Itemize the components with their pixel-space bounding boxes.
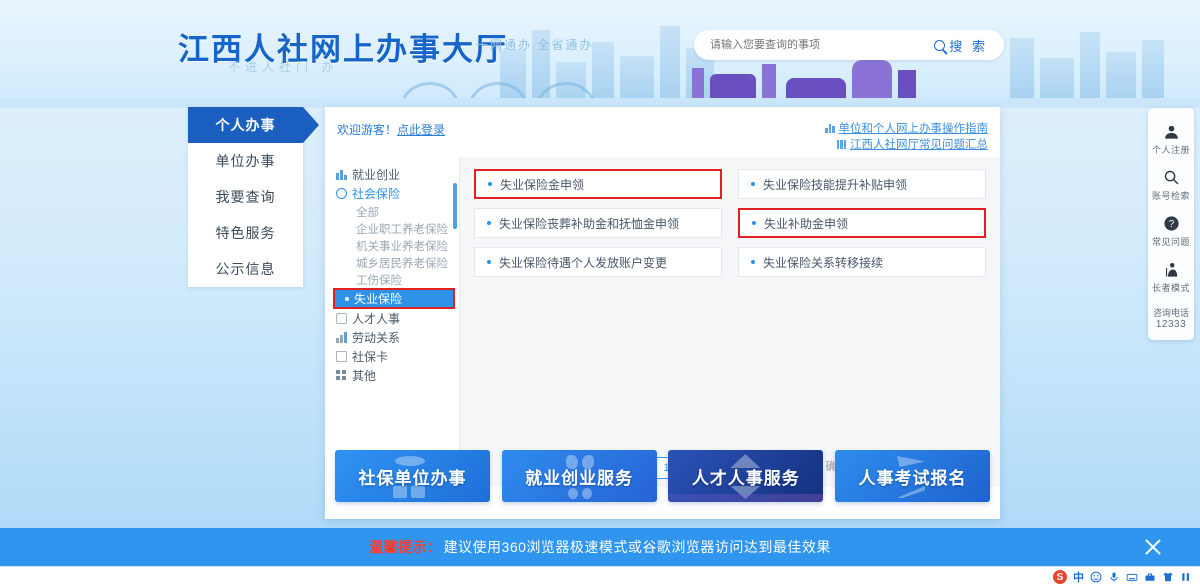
service-item-label: 失业保险技能提升补贴申领	[763, 176, 907, 193]
skyline-shape	[660, 26, 680, 108]
site-slogan: 一网通办 全省通办	[476, 36, 593, 53]
taskbar: S 中	[0, 566, 1200, 586]
toolbar-item-elder-mode[interactable]: 长者模式	[1148, 254, 1194, 300]
guide-link-label: 单位和个人网上办事操作指南	[839, 120, 989, 136]
tree-item-label: 失业保险	[354, 290, 402, 307]
bullet-icon	[488, 182, 492, 186]
sogou-logo-icon[interactable]: S	[1053, 570, 1067, 584]
svg-text:?: ?	[1168, 219, 1174, 230]
notice-warning-label: 温馨提示：	[369, 537, 442, 557]
bullet-icon	[752, 221, 756, 225]
box-icon	[336, 313, 347, 324]
tree-item-work-injury[interactable]: 工伤保险	[333, 271, 459, 288]
service-item-label: 失业保险关系转移接续	[763, 254, 883, 271]
category-tree: 就业创业 社会保险 全部 企业职工养老保险 机关事业养老保险 城乡居民养老保险 …	[325, 157, 460, 487]
book-icon	[837, 139, 847, 149]
grid-icon	[336, 370, 347, 381]
tree-item-label: 其他	[352, 367, 376, 384]
service-item-label: 失业补助金申领	[764, 215, 848, 232]
card-icon	[336, 351, 347, 362]
tree-item-unemployment-insurance[interactable]: 失业保险	[333, 288, 455, 309]
hotline-number: 12333	[1148, 319, 1194, 330]
toolbar-item-label: 长者模式	[1152, 281, 1190, 294]
toolbox-icon[interactable]	[1144, 571, 1156, 583]
bullet-icon	[487, 260, 491, 264]
bars-icon	[336, 169, 347, 180]
bullet-icon	[345, 297, 349, 301]
tree-item-employment[interactable]: 就业创业	[333, 165, 459, 184]
login-link[interactable]: 点此登录	[397, 123, 445, 137]
sidebar-item-notices[interactable]: 公示信息	[188, 251, 303, 287]
circle-icon	[336, 188, 347, 199]
tree-item-label: 劳动关系	[352, 329, 400, 346]
toolbar-item-faq[interactable]: ? 常见问题	[1148, 208, 1194, 254]
quick-button-label: 就业创业服务	[525, 464, 633, 489]
sidebar-item-company[interactable]: 单位办事	[188, 143, 303, 179]
smiley-icon[interactable]	[1090, 571, 1102, 583]
guide-link-operations[interactable]: 单位和个人网上办事操作指南	[825, 120, 988, 136]
search-icon	[934, 40, 945, 51]
toolbar-item-label: 账号检索	[1152, 189, 1190, 202]
tree-item-social-insurance[interactable]: 社会保险	[333, 184, 459, 203]
question-icon: ?	[1163, 215, 1180, 232]
guide-link-faq[interactable]: 江西人社网厅常见问题汇总	[837, 136, 989, 152]
tree-item-resident-pension[interactable]: 城乡居民养老保险	[333, 254, 459, 271]
panel-body: 就业创业 社会保险 全部 企业职工养老保险 机关事业养老保险 城乡居民养老保险 …	[325, 157, 1000, 487]
quick-button-talent-hr-service[interactable]: 人才人事服务	[668, 450, 823, 502]
site-sub-slogan: 不进人社门 办	[228, 58, 338, 75]
service-list-area: 失业保险金申领 失业保险技能提升补贴申领 失业保险丧葬补助金和抚恤金申领 失业补…	[460, 157, 1000, 487]
quick-button-exam-registration[interactable]: 人事考试报名	[835, 450, 990, 502]
service-grid: 失业保险金申领 失业保险技能提升补贴申领 失业保险丧葬补助金和抚恤金申领 失业补…	[474, 169, 986, 277]
service-item-label: 失业保险丧葬补助金和抚恤金申领	[499, 215, 679, 232]
toolbar-item-label: 个人注册	[1152, 143, 1190, 156]
service-item-unemployment-benefit[interactable]: 失业保险金申领	[474, 169, 722, 199]
service-item-skill-subsidy[interactable]: 失业保险技能提升补贴申领	[738, 169, 986, 199]
quick-button-employment-service[interactable]: 就业创业服务	[502, 450, 657, 502]
bullet-icon	[487, 221, 491, 225]
quick-button-label: 人才人事服务	[692, 464, 800, 489]
menu-icon[interactable]	[1180, 571, 1192, 583]
tree-item-label: 社保卡	[352, 348, 388, 365]
shirt-icon[interactable]	[1162, 571, 1174, 583]
toolbar-item-hotline[interactable]: 咨询电话 12333	[1148, 300, 1194, 330]
service-item-unemployment-allowance[interactable]: 失业补助金申领	[738, 208, 986, 238]
hotline-title: 咨询电话	[1148, 306, 1194, 319]
notice-text: 建议使用360浏览器极速模式或谷歌浏览器访问达到最佳效果	[444, 537, 831, 557]
search-button[interactable]: 搜 索	[928, 36, 1004, 55]
sidebar-item-personal[interactable]: 个人办事	[188, 107, 303, 143]
tree-item-social-card[interactable]: 社保卡	[333, 347, 459, 366]
user-icon	[1163, 123, 1180, 140]
tree-item-label: 就业创业	[352, 166, 400, 183]
quick-entry-row: 社保单位办事 就业创业服务 人才人事服务 人事考试报名	[335, 450, 990, 502]
tree-item-label: 人才人事	[352, 310, 400, 327]
quick-button-label: 人事考试报名	[858, 464, 966, 489]
sidebar-item-query[interactable]: 我要查询	[188, 179, 303, 215]
tree-item-all[interactable]: 全部	[333, 203, 459, 220]
ime-toolbar[interactable]: S 中	[1049, 568, 1196, 586]
tree-scrollbar[interactable]	[453, 183, 457, 229]
service-item-account-change[interactable]: 失业保险待遇个人发放账户变更	[474, 247, 722, 277]
ime-mode-label[interactable]: 中	[1073, 569, 1084, 585]
tree-item-labor-relations[interactable]: 劳动关系	[333, 328, 459, 347]
mic-icon[interactable]	[1108, 571, 1120, 583]
service-item-label: 失业保险金申领	[500, 176, 584, 193]
notice-bar: 温馨提示： 建议使用360浏览器极速模式或谷歌浏览器访问达到最佳效果	[0, 528, 1200, 566]
search-input[interactable]	[694, 39, 928, 51]
service-item-transfer[interactable]: 失业保险关系转移接续	[738, 247, 986, 277]
chart-bars-icon	[825, 123, 835, 133]
tree-item-public-pension[interactable]: 机关事业养老保险	[333, 237, 459, 254]
left-nav: 个人办事 单位办事 我要查询 特色服务 公示信息	[188, 107, 303, 287]
signal-icon	[336, 332, 347, 343]
toolbar-item-account-search[interactable]: 账号检索	[1148, 162, 1194, 208]
service-item-funeral-pension[interactable]: 失业保险丧葬补助金和抚恤金申领	[474, 208, 722, 238]
toolbar-item-label: 常见问题	[1152, 235, 1190, 248]
quick-button-social-insurance-company[interactable]: 社保单位办事	[335, 450, 490, 502]
skyline-shape	[1080, 32, 1100, 108]
welcome-row: 欢迎游客！点此登录	[337, 121, 445, 138]
welcome-text: 欢迎游客！	[337, 123, 397, 137]
toolbar-item-register[interactable]: 个人注册	[1148, 116, 1194, 162]
sidebar-item-features[interactable]: 特色服务	[188, 215, 303, 251]
bullet-icon	[751, 260, 755, 264]
close-icon[interactable]	[1142, 536, 1164, 558]
search-icon	[1163, 169, 1180, 186]
tree-item-talent-hr[interactable]: 人才人事	[333, 309, 459, 328]
elder-icon	[1163, 261, 1180, 278]
search-bar[interactable]: 搜 索	[694, 30, 1004, 60]
right-floating-toolbar: 个人注册 账号检索 ? 常见问题 长者模式 咨询电话 12333	[1148, 108, 1194, 340]
tree-item-other[interactable]: 其他	[333, 366, 459, 385]
search-button-label: 搜 索	[949, 36, 988, 55]
keyboard-icon[interactable]	[1126, 571, 1138, 583]
tree-item-enterprise-pension[interactable]: 企业职工养老保险	[333, 220, 459, 237]
service-item-label: 失业保险待遇个人发放账户变更	[499, 254, 667, 271]
guide-link-label: 江西人社网厅常见问题汇总	[850, 136, 988, 152]
quick-button-label: 社保单位办事	[359, 464, 467, 489]
tree-item-label: 社会保险	[352, 185, 400, 202]
bullet-icon	[751, 182, 755, 186]
